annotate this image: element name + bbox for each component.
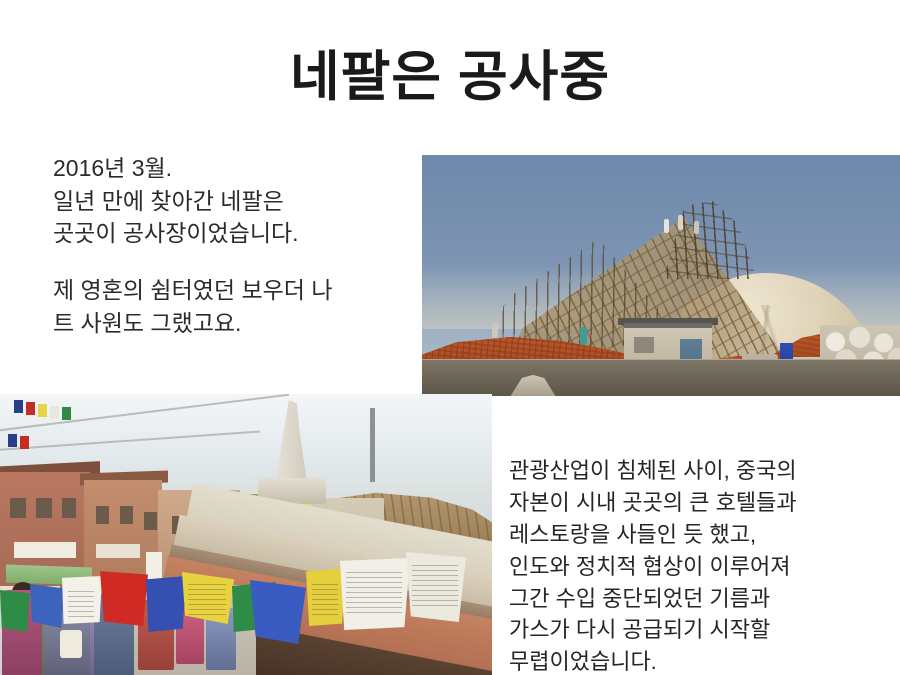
- prayer-flag: [250, 580, 306, 644]
- flag-mantra-text: [68, 588, 94, 617]
- window: [10, 498, 26, 518]
- worker-figure: [664, 219, 669, 233]
- flag-mantra-text: [412, 564, 458, 606]
- right-line-1: 관광산업이 침체된 사이, 중국의: [509, 455, 899, 487]
- right-line-5: 그간 수입 중단되었던 기름과: [509, 583, 899, 615]
- window: [96, 506, 109, 524]
- small-prayer-flag: [8, 434, 17, 447]
- left-text-block: 2016년 3월. 일년 만에 찾아간 네팔은 곳곳이 공사장이었습니다. 제 …: [53, 152, 433, 339]
- small-prayer-flag: [14, 400, 23, 413]
- right-line-3: 레스토랑을 사들인 듯 했고,: [509, 519, 899, 551]
- shoulder-bag: [60, 630, 82, 658]
- left-paragraph-2: 제 영혼의 쉼터였던 보우더 나 트 사원도 그랬고요.: [53, 274, 433, 339]
- presentation-slide: 네팔은 공사중 2016년 3월. 일년 만에 찾아간 네팔은 곳곳이 공사장이…: [0, 0, 900, 675]
- foreground-platform: [422, 360, 900, 396]
- slide-title: 네팔은 공사중: [0, 46, 900, 108]
- shop-sign: [96, 544, 140, 558]
- prayer-flag: [30, 584, 64, 628]
- small-prayer-flag: [20, 436, 29, 449]
- window: [144, 512, 157, 530]
- small-prayer-flag: [38, 404, 47, 417]
- small-prayer-flag: [50, 406, 59, 419]
- flag-mantra-text: [312, 580, 338, 615]
- small-prayer-flag: [26, 402, 35, 415]
- window: [36, 498, 52, 518]
- left-p1-line-1: 2016년 3월.: [53, 152, 433, 185]
- prayer-flag: [0, 590, 30, 632]
- right-line-6: 가스가 다시 공급되기 시작할: [509, 614, 899, 646]
- shop-sign: [14, 542, 76, 558]
- flag-mantra-text: [188, 584, 226, 615]
- window: [62, 498, 76, 518]
- left-p2-line-2: 트 사원도 그랬고요.: [53, 307, 433, 340]
- boudha-street-prayer-flags-photo: [0, 394, 492, 675]
- boudhanath-stupa-reconstruction-photo: [422, 155, 900, 396]
- right-text-block: 관광산업이 침체된 사이, 중국의 자본이 시내 곳곳의 큰 호텔들과 레스토랑…: [509, 455, 899, 675]
- small-prayer-flag: [62, 407, 71, 420]
- left-p2-line-1: 제 영혼의 쉼터였던 보우더 나: [53, 274, 433, 307]
- prayer-flag: [306, 568, 346, 626]
- worker-figure: [492, 323, 498, 338]
- prayer-flag: [182, 572, 234, 624]
- window: [120, 506, 133, 524]
- flag-mantra-text: [346, 570, 402, 613]
- shed-window: [634, 337, 654, 353]
- worker-figure: [694, 221, 699, 234]
- worker-figure: [678, 215, 683, 230]
- left-p1-line-3: 곳곳이 공사장이었습니다.: [53, 217, 433, 250]
- prayer-flag: [340, 558, 410, 630]
- prayer-flag: [146, 576, 186, 632]
- metal-pole: [370, 408, 375, 482]
- prayer-flag: [62, 576, 102, 624]
- worker-figure: [580, 327, 587, 345]
- right-line-7: 무렵이었습니다.: [509, 646, 899, 675]
- prayer-flag: [406, 552, 466, 622]
- right-line-4: 인도와 정치적 협상이 이루어져: [509, 551, 899, 583]
- right-line-2: 자본이 시내 곳곳의 큰 호텔들과: [509, 487, 899, 519]
- left-p1-line-2: 일년 만에 찾아간 네팔은: [53, 185, 433, 218]
- left-paragraph-1: 2016년 3월. 일년 만에 찾아간 네팔은 곳곳이 공사장이었습니다.: [53, 152, 433, 250]
- prayer-flag: [100, 570, 148, 626]
